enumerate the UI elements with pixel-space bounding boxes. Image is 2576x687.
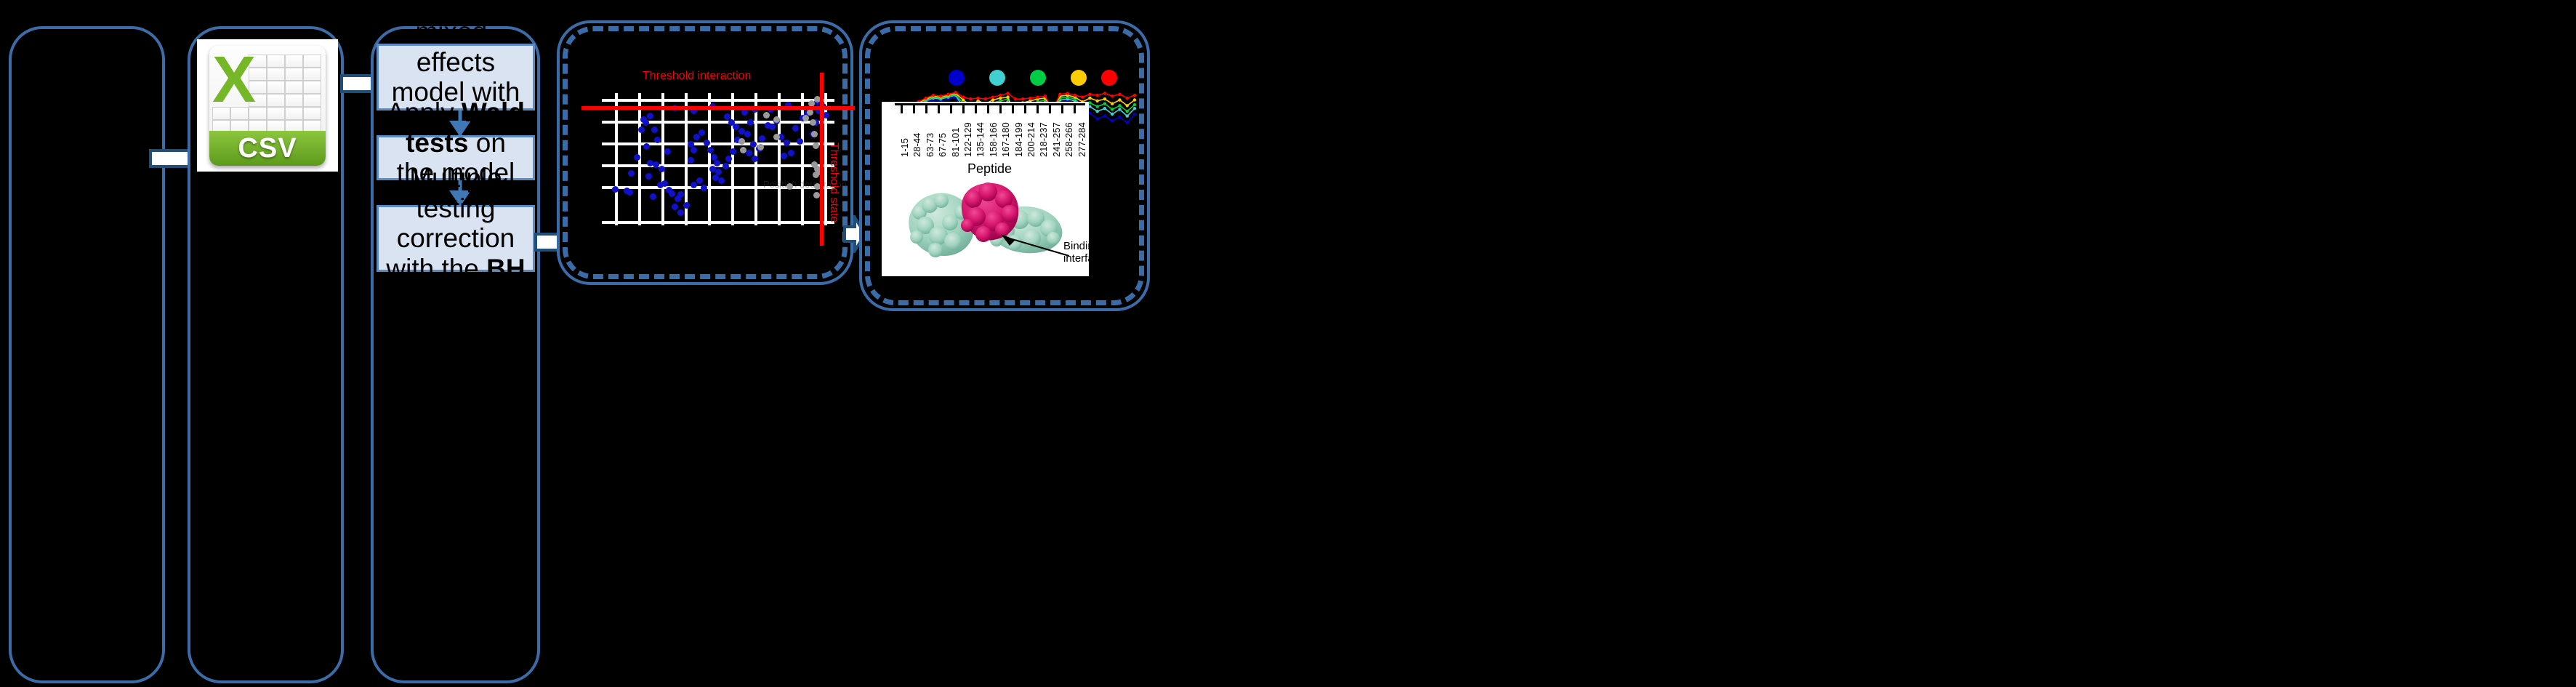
line-point xyxy=(1066,92,1068,95)
threshold-interaction-line xyxy=(581,106,855,110)
line-point xyxy=(1081,95,1084,98)
scatter-point xyxy=(759,135,765,142)
scatter-point-grey xyxy=(757,144,764,150)
scatter-point xyxy=(677,209,684,216)
step-text-line: correction xyxy=(383,223,528,253)
line-point xyxy=(1111,103,1114,105)
scatter-point xyxy=(714,160,720,166)
line-point xyxy=(1118,104,1121,107)
line-point xyxy=(1111,95,1114,97)
line-point xyxy=(1126,110,1129,113)
binding-interface-label-line2: interface xyxy=(1063,252,1089,265)
scatter-point xyxy=(638,126,645,133)
scatter-point xyxy=(691,147,697,153)
plain-text: procedure xyxy=(395,284,517,313)
multiple-testing-step-text: Multiple testingcorrectionwith the BH pr… xyxy=(383,163,528,313)
peptide-tick-label: 184-199 xyxy=(1013,122,1024,157)
peptide-tick-label: 81-101 xyxy=(950,128,961,157)
plain-text: Apply xyxy=(387,97,462,127)
scatter-point-grey xyxy=(813,192,820,198)
step-text-line: Fit a linear mixed- xyxy=(383,0,528,47)
emphasis-text: BH xyxy=(486,254,525,284)
csv-icon-tile: X CSV xyxy=(198,40,337,171)
scatter-point xyxy=(730,148,736,155)
peptide-tick-label: 122-129 xyxy=(962,122,973,157)
step-text-line: Apply Wald tests on xyxy=(383,97,528,158)
line-point xyxy=(999,97,1002,100)
volcano-scatter-plot: Position deuteration xyxy=(602,93,834,225)
plain-text: correction xyxy=(397,223,515,253)
scatter-point-grey xyxy=(786,183,793,190)
scatter-point xyxy=(788,150,794,156)
scatter-point-grey xyxy=(773,116,780,123)
scatter-point xyxy=(724,113,730,120)
excel-x-glyph: X xyxy=(212,47,256,113)
scatter-point xyxy=(688,141,694,148)
scatter-point xyxy=(659,166,665,172)
scatter-point-grey xyxy=(773,134,780,140)
scatter-point xyxy=(823,112,829,118)
line-point xyxy=(1006,92,1009,95)
peptide-tick-label: 200-214 xyxy=(1026,122,1037,157)
panel-input xyxy=(9,26,165,683)
scatter-point xyxy=(650,193,656,200)
line-point xyxy=(1036,95,1039,98)
peptide-tick-label: 67-75 xyxy=(937,133,948,157)
line-point xyxy=(1133,107,1136,110)
scatter-point xyxy=(704,140,710,146)
peptide-tick-label: 158-166 xyxy=(988,122,999,157)
peptide-tick-label: 63-73 xyxy=(925,133,935,157)
scatter-point xyxy=(643,119,649,126)
peptide-tick-label: 135-144 xyxy=(975,122,986,157)
scatter-point xyxy=(651,126,658,133)
line-point xyxy=(1111,108,1114,111)
scatter-point xyxy=(672,204,678,210)
scatter-point-grey xyxy=(807,109,813,116)
peptide-tick-label: 258-266 xyxy=(1063,122,1074,157)
line-point xyxy=(1103,107,1106,110)
scatter-point xyxy=(683,202,690,209)
line-point xyxy=(1118,93,1121,96)
threshold-state-line xyxy=(820,73,824,246)
scatter-point xyxy=(654,137,661,143)
scatter-point xyxy=(792,125,799,132)
threshold-state-label: Threshold state xyxy=(827,142,840,222)
scatter-point-grey xyxy=(740,147,746,153)
line-point xyxy=(1133,113,1136,116)
plain-text: with the xyxy=(386,254,486,284)
scatter-point xyxy=(797,138,803,145)
scatter-point-grey xyxy=(813,142,819,149)
csv-band-label: CSV xyxy=(238,133,297,164)
scatter-point xyxy=(699,129,705,136)
line-point xyxy=(1096,100,1099,103)
y-axis-tick-zero: 0.0 xyxy=(882,102,894,103)
gridline-v xyxy=(778,93,781,225)
scatter-point xyxy=(725,156,732,162)
line-point xyxy=(999,94,1002,97)
line-point xyxy=(1014,97,1017,100)
peptide-tick-label: 167-180 xyxy=(1000,122,1011,157)
line-point xyxy=(1088,97,1091,100)
multiple-testing-step[interactable]: Multiple testingcorrectionwith the BH pr… xyxy=(377,205,535,272)
scatter-point xyxy=(677,191,684,198)
scatter-point xyxy=(688,157,694,164)
plain-text: Fit a linear mixed- xyxy=(393,0,519,47)
line-point xyxy=(1118,116,1121,118)
peptide-tick-label: 277-284 xyxy=(1076,122,1087,157)
scatter-point xyxy=(612,186,619,193)
line-point xyxy=(1096,94,1099,97)
scatter-point xyxy=(769,124,776,130)
line-point xyxy=(1103,97,1106,100)
scatter-point xyxy=(744,131,751,137)
line-point xyxy=(1133,94,1136,97)
line-point xyxy=(1029,97,1031,100)
scatter-point xyxy=(747,119,754,126)
threshold-interaction-label: Threshold interaction xyxy=(643,70,751,83)
gridline-h xyxy=(602,99,834,102)
line-point xyxy=(1118,108,1121,111)
scatter-point-grey xyxy=(763,112,770,118)
scatter-point xyxy=(691,182,697,188)
scatter-point xyxy=(643,143,650,150)
line-point xyxy=(1103,103,1106,105)
line-point xyxy=(969,97,972,100)
scatter-point xyxy=(669,190,675,197)
line-point xyxy=(991,95,994,98)
line-point xyxy=(1096,117,1099,120)
step-text-line: with the BH procedure xyxy=(383,254,528,314)
line-point xyxy=(1133,98,1136,101)
line-point xyxy=(1096,105,1099,108)
binding-interface-label: Binding interface xyxy=(1063,240,1089,265)
scatter-point xyxy=(634,154,640,161)
gridline-h xyxy=(602,121,834,124)
line-point xyxy=(1021,97,1024,100)
scatter-point-grey xyxy=(811,131,818,137)
scatter-point xyxy=(723,163,729,169)
binding-interface-pointer xyxy=(999,234,1072,259)
peptide-tick-label: 28-44 xyxy=(911,133,922,157)
scatter-point xyxy=(701,185,707,191)
line-point xyxy=(1103,92,1106,95)
scatter-point xyxy=(707,147,714,153)
scatter-point xyxy=(718,177,725,184)
workflow-diagram: X CSV Fit a linear mixed-effects model w… xyxy=(0,0,2576,687)
scatter-point xyxy=(645,173,652,180)
scatter-point xyxy=(664,148,671,155)
line-point xyxy=(1058,93,1061,96)
line-point xyxy=(962,95,965,98)
results-inset: 0.0 1-1528-4463-7367-7581-101122-129135-… xyxy=(882,102,1089,276)
scatter-point-grey xyxy=(802,115,809,121)
scatter-point-grey xyxy=(738,138,745,145)
step-text-line: Multiple testing xyxy=(383,163,528,223)
line-point xyxy=(1044,95,1047,97)
gridline-v xyxy=(615,93,618,225)
line-point xyxy=(1126,121,1129,124)
line-point xyxy=(932,94,935,97)
line-point xyxy=(1118,98,1121,101)
scatter-point xyxy=(752,156,758,162)
line-point xyxy=(1133,103,1136,106)
line-point xyxy=(925,97,927,100)
line-point xyxy=(939,95,942,97)
plain-text: Multiple testing xyxy=(409,163,502,222)
line-point xyxy=(1088,93,1091,96)
line-point xyxy=(946,93,949,96)
scatter-point xyxy=(627,189,633,196)
scatter-point xyxy=(661,180,668,187)
line-point xyxy=(1126,97,1129,100)
scatter-plot-area: Position deuteration xyxy=(602,93,834,225)
gridline-v xyxy=(661,93,664,225)
scatter-point xyxy=(746,150,752,156)
csv-file-icon: X CSV xyxy=(209,46,326,166)
gridline-h xyxy=(602,221,834,224)
peptide-tick-label: 1-15 xyxy=(899,138,910,157)
line-point xyxy=(1111,119,1114,122)
line-point xyxy=(954,91,957,94)
line-point xyxy=(1126,114,1129,117)
line-point xyxy=(1103,114,1106,117)
plain-text: on xyxy=(468,128,505,158)
line-point xyxy=(976,97,979,100)
scatter-point xyxy=(728,119,735,126)
scatter-point-grey xyxy=(810,119,816,126)
line-point xyxy=(1111,113,1114,116)
scatter-point xyxy=(741,109,748,116)
csv-band: CSV xyxy=(209,131,326,166)
line-point xyxy=(1006,95,1009,98)
line-point xyxy=(1096,110,1099,113)
scatter-point xyxy=(628,170,635,177)
peptide-tick-label: 241-257 xyxy=(1051,122,1062,157)
scatter-point xyxy=(784,140,790,146)
line-point xyxy=(1126,104,1129,107)
gridline-v xyxy=(708,93,711,225)
scatter-point xyxy=(647,113,653,119)
scatter-point xyxy=(781,153,787,159)
line-point xyxy=(984,97,987,100)
binding-interface-label-line1: Binding xyxy=(1063,240,1089,252)
line-point xyxy=(1074,94,1076,97)
scatter-point xyxy=(696,177,703,184)
peptide-tick-label: 218-237 xyxy=(1038,122,1049,157)
x-axis-ticks xyxy=(895,103,1085,108)
